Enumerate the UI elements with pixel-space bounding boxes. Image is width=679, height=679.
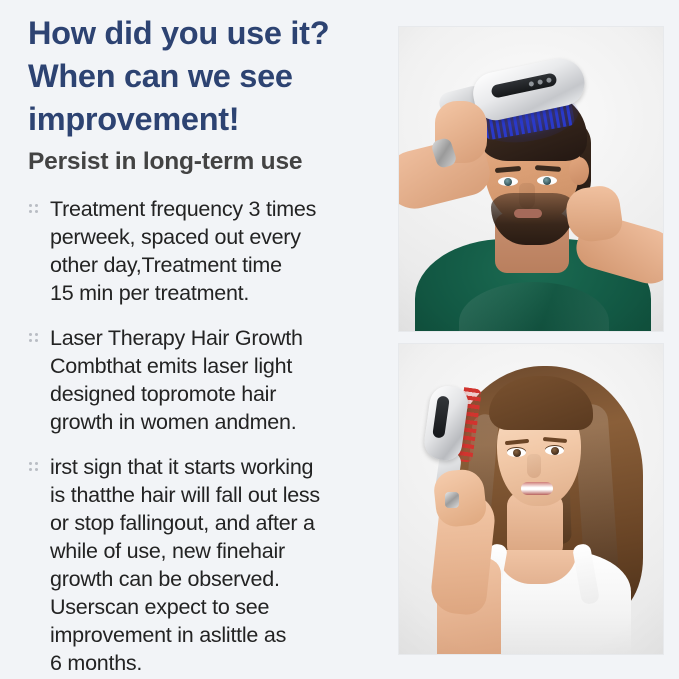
- bullet-text: Laser Therapy Hair Growth Combthat emits…: [50, 324, 384, 436]
- bullet-text: Treatment frequency 3 times perweek, spa…: [50, 195, 384, 307]
- four-dot-bullet-icon: [29, 333, 40, 344]
- bullet-line: improvement in aslittle as: [50, 621, 384, 649]
- bullet-line: Laser Therapy Hair Growth: [50, 324, 384, 352]
- bullet-line: is thatthe hair will fall out less: [50, 481, 384, 509]
- bullet-line: perweek, spaced out every: [50, 223, 384, 251]
- bullet-line: irst sign that it starts working: [50, 453, 384, 481]
- bullet-line: Combthat emits laser light: [50, 352, 384, 380]
- bullet-line: other day,Treatment time: [50, 251, 384, 279]
- photo-scene-woman: [399, 344, 663, 654]
- lips: [514, 209, 542, 218]
- bullet-line: designed topromote hair: [50, 380, 384, 408]
- smile-mouth: [521, 482, 553, 495]
- list-item: Treatment frequency 3 times perweek, spa…: [28, 195, 384, 307]
- bullet-line: Treatment frequency 3 times: [50, 195, 384, 223]
- list-item: Laser Therapy Hair Growth Combthat emits…: [28, 324, 384, 436]
- finger-ring: [445, 492, 459, 508]
- product-infographic-page: How did you use it? When can we see impr…: [0, 0, 679, 679]
- page-title-line-2: When can we see: [28, 55, 384, 98]
- eye-right: [537, 176, 557, 185]
- bullet-line: 15 min per treatment.: [50, 279, 384, 307]
- bullet-line: while of use, new finehair: [50, 537, 384, 565]
- bullet-line: 6 months.: [50, 649, 384, 677]
- bullet-line: or stop fallingout, and after a: [50, 509, 384, 537]
- photo-scene-man: [399, 27, 663, 331]
- bullet-line: Userscan expect to see: [50, 593, 384, 621]
- page-title-line-1: How did you use it?: [28, 12, 384, 55]
- list-item: irst sign that it starts working is that…: [28, 453, 384, 677]
- page-title-line-3: improvement!: [28, 98, 384, 141]
- bullet-line: growth in women andmen.: [50, 408, 384, 436]
- product-photo-woman: [399, 344, 663, 654]
- nose: [527, 454, 541, 478]
- product-photo-man: [399, 27, 663, 331]
- bullet-line: growth can be observed.: [50, 565, 384, 593]
- four-dot-bullet-icon: [29, 204, 40, 215]
- eye-left: [507, 448, 526, 457]
- eye-left: [498, 177, 518, 186]
- four-dot-bullet-icon: [29, 462, 40, 473]
- ear: [569, 157, 589, 185]
- page-title: How did you use it? When can we see impr…: [28, 12, 384, 141]
- page-subtitle: Persist in long-term use: [28, 146, 384, 178]
- bullet-text: irst sign that it starts working is that…: [50, 453, 384, 677]
- text-column: How did you use it? When can we see impr…: [0, 0, 392, 679]
- eye-right: [545, 446, 564, 455]
- feature-bullet-list: Treatment frequency 3 times perweek, spa…: [28, 195, 384, 677]
